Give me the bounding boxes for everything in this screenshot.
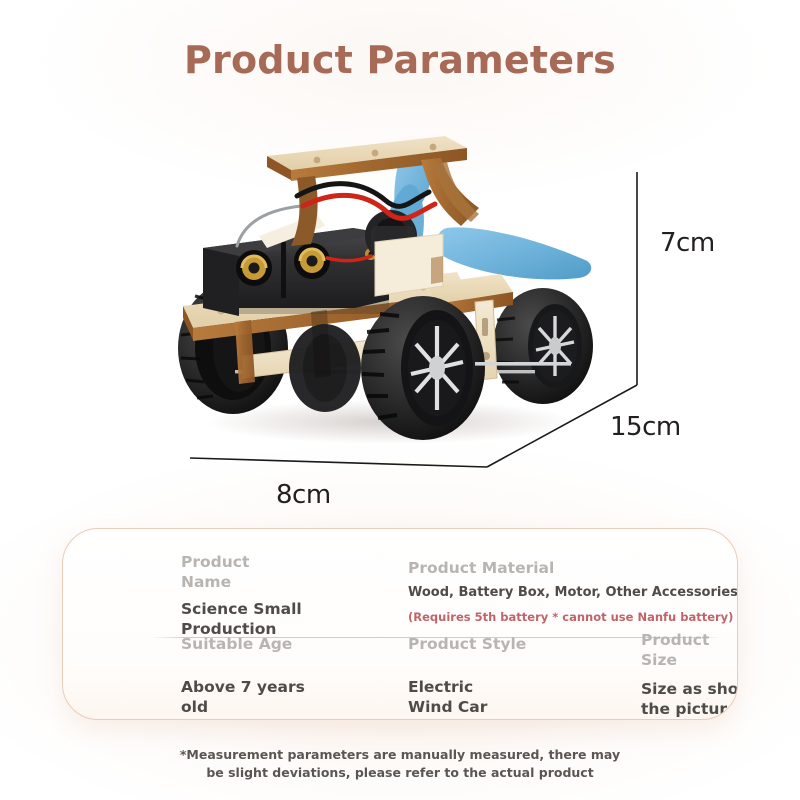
param-row-2: Suitable Age Above 7 years old Product S… [63, 629, 737, 717]
dimension-depth-label: 15cm [610, 412, 681, 442]
param-cell-product-style: Product Style Electric Wind Car [408, 635, 608, 717]
param-value-product-size: Size as shown in the picture [641, 679, 738, 719]
param-cell-product-material: Product Material Wood, Battery Box, Moto… [408, 559, 738, 624]
param-cell-product-name: Product Name Science Small Production [181, 553, 401, 639]
measurement-disclaimer: *Measurement parameters are manually mea… [0, 746, 800, 782]
dimension-callout-lines [0, 110, 800, 520]
product-parameters-card: Product Name Science Small Production Pr… [62, 528, 738, 720]
param-value-product-style: Electric Wind Car [408, 677, 608, 717]
param-label-suitable-age: Suitable Age [181, 635, 391, 655]
param-label-product-material: Product Material [408, 559, 738, 579]
param-value-product-material: Wood, Battery Box, Motor, Other Accessor… [408, 585, 738, 602]
param-cell-suitable-age: Suitable Age Above 7 years old [181, 635, 391, 717]
product-hero: 7cm 15cm 8cm [0, 110, 800, 520]
param-value-suitable-age: Above 7 years old [181, 677, 391, 717]
product-parameters-page: Product Parameters [0, 0, 800, 800]
dimension-width-label: 8cm [276, 480, 331, 510]
dimension-height-label: 7cm [660, 228, 715, 258]
param-note-battery-warning: (Requires 5th battery * cannot use Nanfu… [408, 610, 738, 624]
param-label-product-style: Product Style [408, 635, 608, 655]
param-row-1: Product Name Science Small Production Pr… [63, 543, 737, 629]
param-cell-product-size: Product Size Size as shown in the pictur… [641, 631, 738, 719]
param-label-product-size: Product Size [641, 631, 738, 671]
param-label-product-name: Product Name [181, 553, 401, 593]
page-title: Product Parameters [0, 38, 800, 82]
